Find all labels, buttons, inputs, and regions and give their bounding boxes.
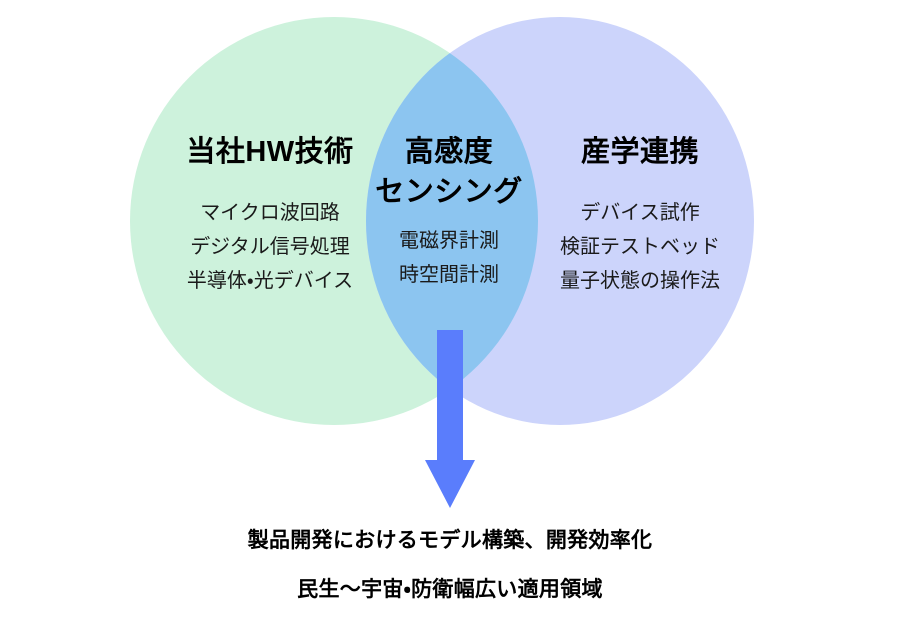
caption-line-2: 民生～宇宙・防衛幅広い適用領域	[0, 573, 900, 603]
right-lobe-item-1: デバイス試作	[500, 203, 780, 223]
right-lobe-text: 産学連携 デバイス試作 検証テストベッド 量子状態の操作法	[500, 138, 780, 305]
caption-line-1: 製品開発におけるモデル構築、開発効率化	[0, 524, 900, 554]
right-lobe-item-2: 検証テストベッド	[500, 237, 780, 257]
right-lobe-items: デバイス試作 検証テストベッド 量子状態の操作法	[500, 203, 780, 291]
caption-block: 製品開発におけるモデル構築、開発効率化 民生～宇宙・防衛幅広い適用領域	[0, 524, 900, 603]
down-arrow	[410, 330, 490, 515]
down-arrow-shape	[425, 330, 475, 508]
diagram-canvas: 当社HW技術 マイクロ波回路 デジタル信号処理 半導体・光デバイス 高感度 セン…	[0, 0, 900, 617]
right-lobe-title: 産学連携	[500, 138, 780, 167]
right-lobe-item-3: 量子状態の操作法	[500, 271, 780, 291]
down-arrow-icon	[410, 330, 490, 515]
